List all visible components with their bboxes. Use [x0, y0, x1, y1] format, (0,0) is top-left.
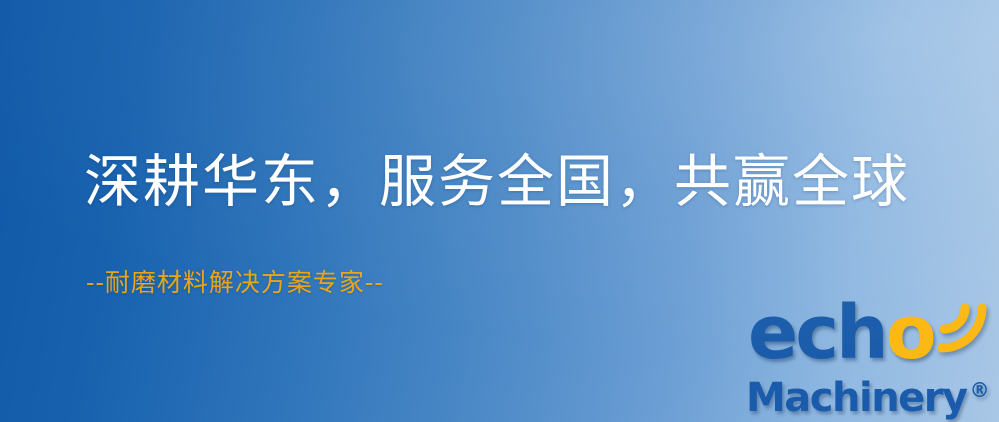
logo-wordmark-o: o — [886, 290, 934, 376]
logo-tagline-text: Machinery — [746, 375, 967, 421]
promotional-banner: 深耕华东，服务全国，共赢全球 --耐磨材料解决方案专家-- echo Machi… — [0, 0, 999, 422]
logo-wordmark: echo — [748, 296, 934, 370]
signal-waves-icon — [930, 294, 992, 356]
logo-wordmark-ech: ech — [748, 290, 886, 376]
banner-headline: 深耕华东，服务全国，共赢全球 — [84, 152, 910, 214]
logo-tagline: Machinery® — [746, 368, 990, 420]
registered-trademark-icon: ® — [970, 378, 990, 402]
echo-machinery-logo: echo Machinery® — [744, 296, 994, 418]
banner-subtitle: --耐磨材料解决方案专家-- — [86, 268, 384, 298]
